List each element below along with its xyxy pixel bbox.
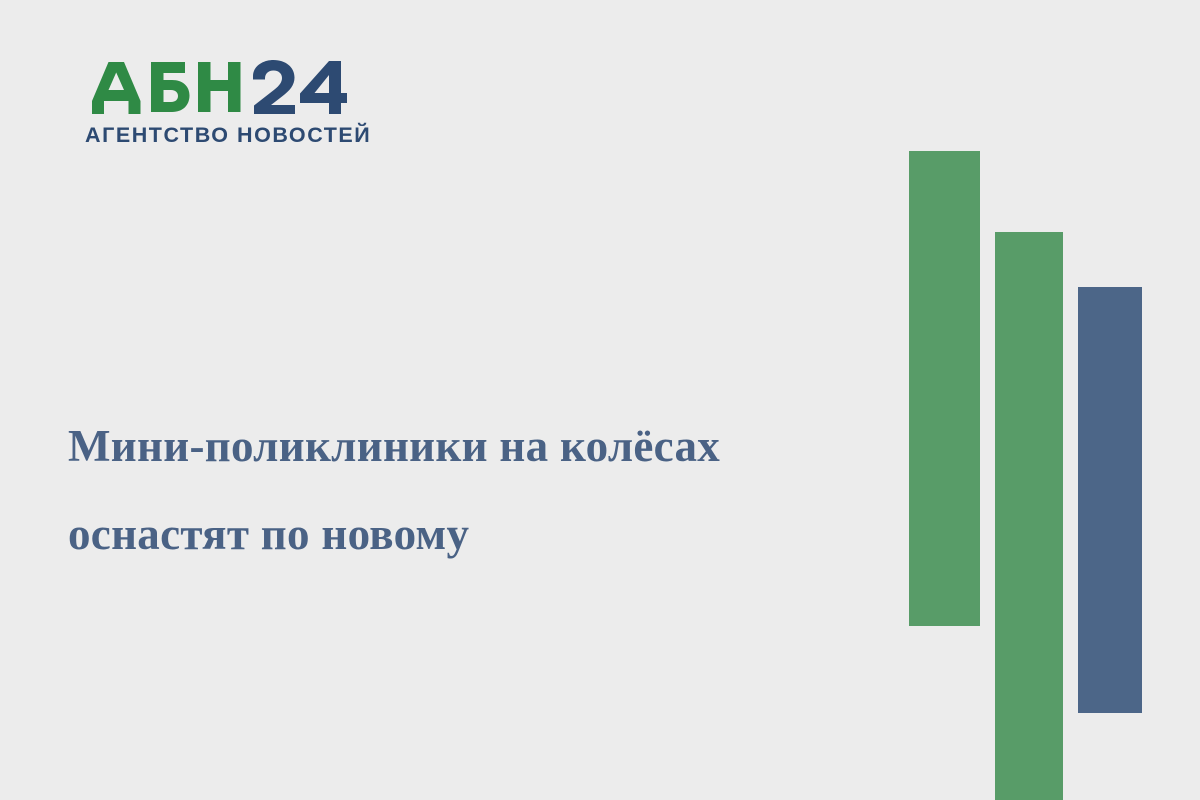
headline-line-2: оснастят по новому bbox=[68, 490, 888, 578]
abn24-logo[interactable]: АГЕНТСТВО НОВОСТЕЙ bbox=[84, 60, 384, 147]
decoration-bar-3 bbox=[1078, 287, 1142, 713]
headline: Мини-поликлиники на колёсах оснастят по … bbox=[68, 402, 888, 578]
headline-line-1: Мини-поликлиники на колёсах bbox=[68, 402, 888, 490]
decoration-bar-2 bbox=[995, 232, 1063, 800]
decoration-bar-1 bbox=[909, 151, 980, 626]
abn24-wordmark-icon bbox=[84, 60, 347, 116]
news-card: АГЕНТСТВО НОВОСТЕЙ Мини-поликлиники на к… bbox=[0, 0, 1200, 800]
logo-tagline: АГЕНТСТВО НОВОСТЕЙ bbox=[85, 125, 384, 147]
